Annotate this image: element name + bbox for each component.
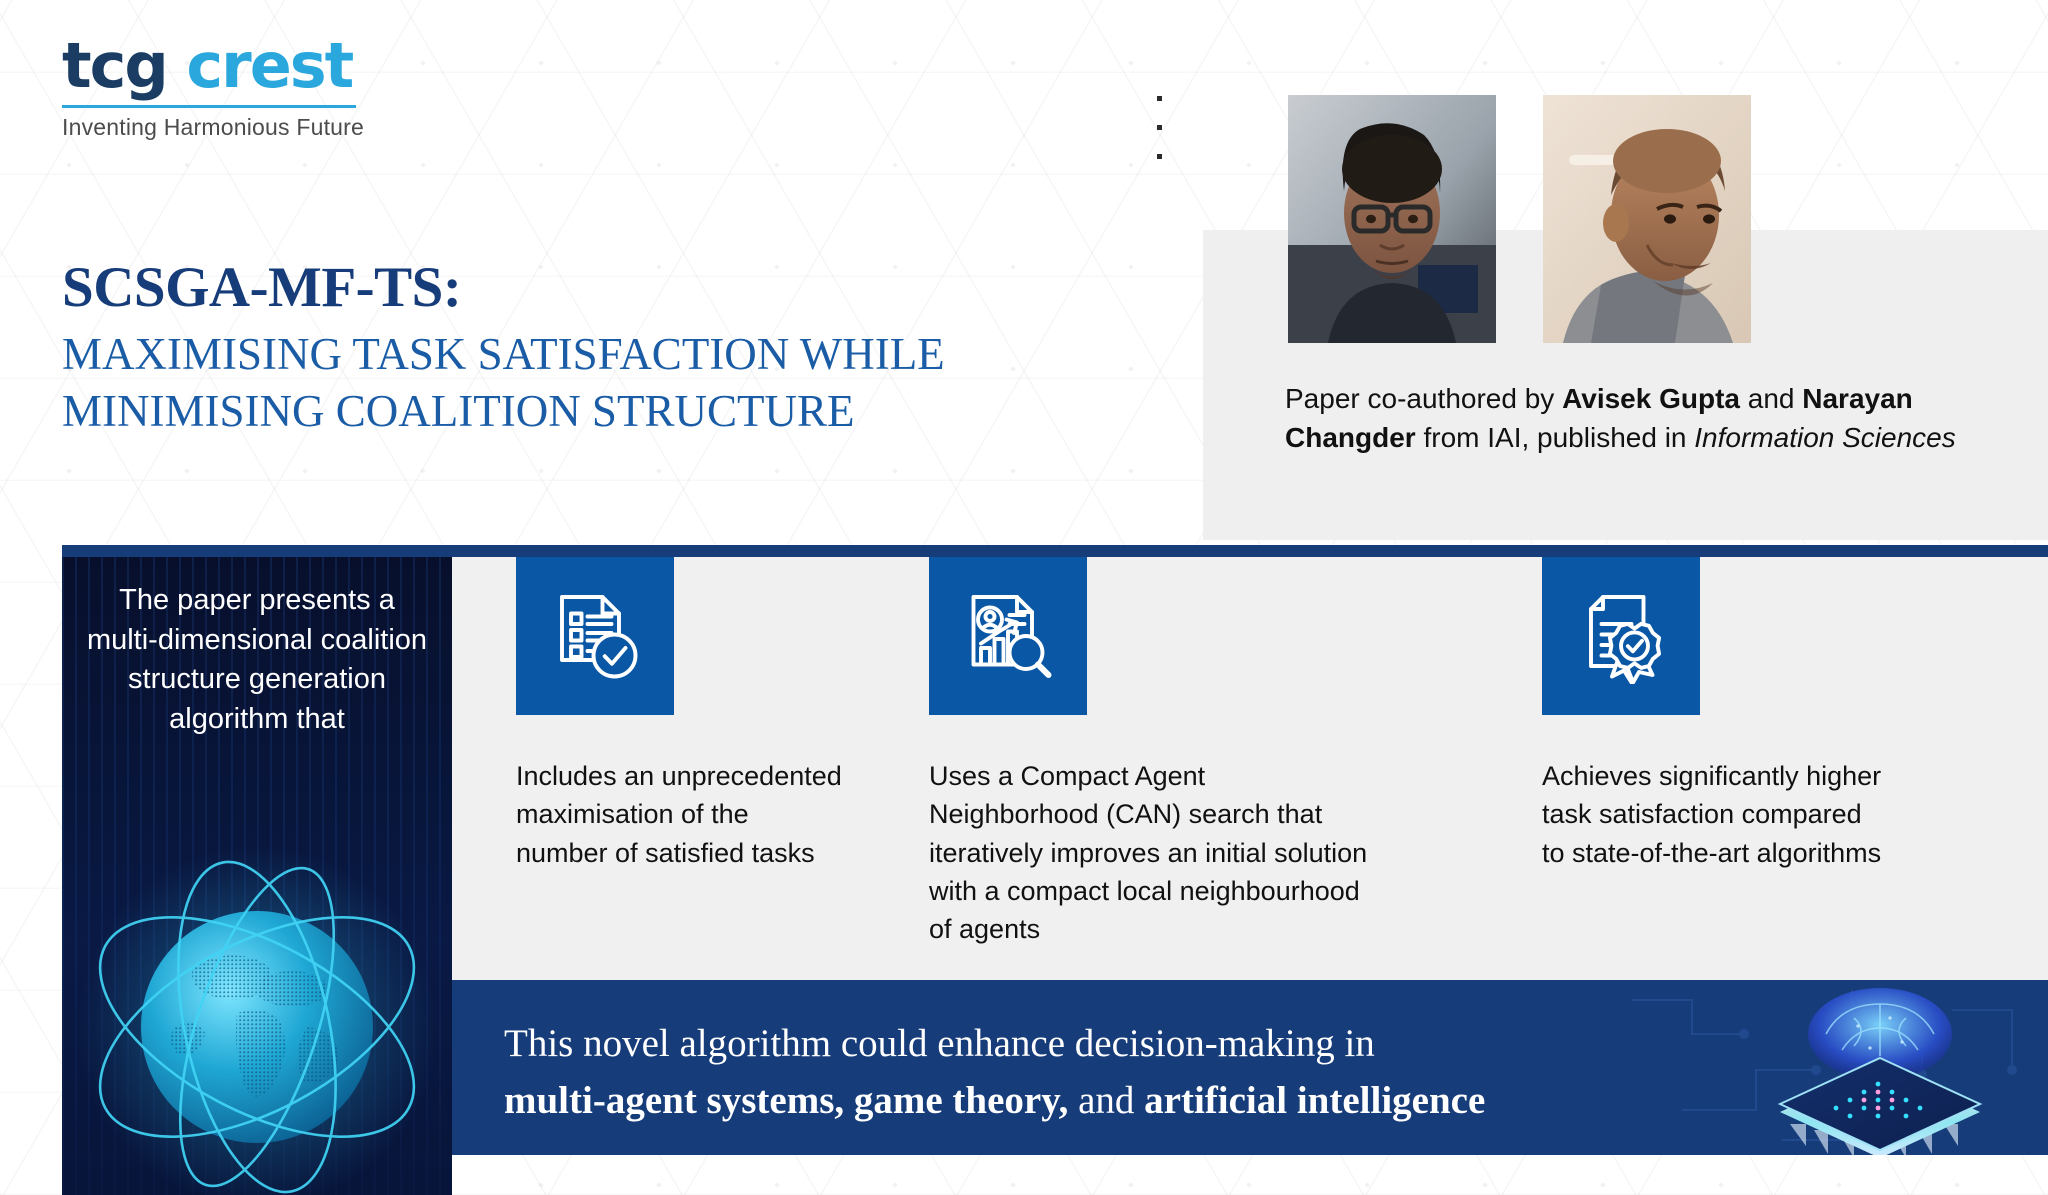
logo-divider xyxy=(62,105,356,108)
feature-text-2: Uses a Compact Agent Neighborhood (CAN) … xyxy=(929,757,1369,949)
logo-wordmark: tcg crest xyxy=(62,34,442,97)
avisek-gupta-photo xyxy=(1288,95,1496,343)
feature-text-1: Includes an unprecedented maximisation o… xyxy=(516,757,846,872)
credit-prefix: Paper co-authored by xyxy=(1285,383,1562,414)
cta-text: This novel algorithm could enhance decis… xyxy=(504,1016,1734,1129)
author-name-1: Avisek Gupta xyxy=(1562,383,1740,414)
cta-mid: and xyxy=(1068,1079,1144,1122)
vertical-ellipsis-icon xyxy=(1157,96,1162,183)
narayan-changder-photo xyxy=(1543,95,1751,343)
report-chart-magnifier-icon xyxy=(929,557,1087,715)
page-title: SCSGA-MF-TS: xyxy=(62,258,1202,318)
cta-banner: This novel algorithm could enhance decis… xyxy=(452,980,2048,1155)
author-credit: Paper co-authored by Avisek Gupta and Na… xyxy=(1285,380,1975,457)
lede-panel: The paper presents a multi-dimensional c… xyxy=(62,557,452,1195)
cta-line-1: This novel algorithm could enhance decis… xyxy=(504,1022,1375,1065)
subtitle-line-2: MINIMISING COALITION STRUCTURE xyxy=(62,386,854,436)
feature-text-3: Achieves significantly higher task satis… xyxy=(1542,757,1882,872)
logo-tagline: Inventing Harmonious Future xyxy=(62,114,442,141)
ai-brain-chip-graphic xyxy=(1730,980,2030,1155)
checklist-document-check-icon xyxy=(516,557,674,715)
brand-logo: tcg crest Inventing Harmonious Future xyxy=(62,34,442,141)
credit-conjunction: and xyxy=(1740,383,1802,414)
page-subtitle: MAXIMISING TASK SATISFACTION WHILE MINIM… xyxy=(62,326,1202,441)
lede-text: The paper presents a multi-dimensional c… xyxy=(62,581,452,740)
features-band: Includes an unprecedented maximisation o… xyxy=(452,557,2048,980)
certificate-award-icon xyxy=(1542,557,1700,715)
cta-bold-2: artificial intelligence xyxy=(1144,1079,1485,1122)
cta-bold-1: multi-agent systems, game theory, xyxy=(504,1079,1068,1122)
journal-name: Information Sciences xyxy=(1694,422,1955,453)
logo-text-crest: crest xyxy=(186,29,352,102)
subtitle-line-1: MAXIMISING TASK SATISFACTION WHILE xyxy=(62,329,945,379)
digital-globe-graphic xyxy=(67,831,447,1195)
credit-affiliation: from IAI, published in xyxy=(1416,422,1695,453)
headline-block: SCSGA-MF-TS: MAXIMISING TASK SATISFACTIO… xyxy=(62,258,1202,441)
content-band-top-rule xyxy=(62,545,2048,557)
logo-text-tcg: tcg xyxy=(62,29,167,102)
